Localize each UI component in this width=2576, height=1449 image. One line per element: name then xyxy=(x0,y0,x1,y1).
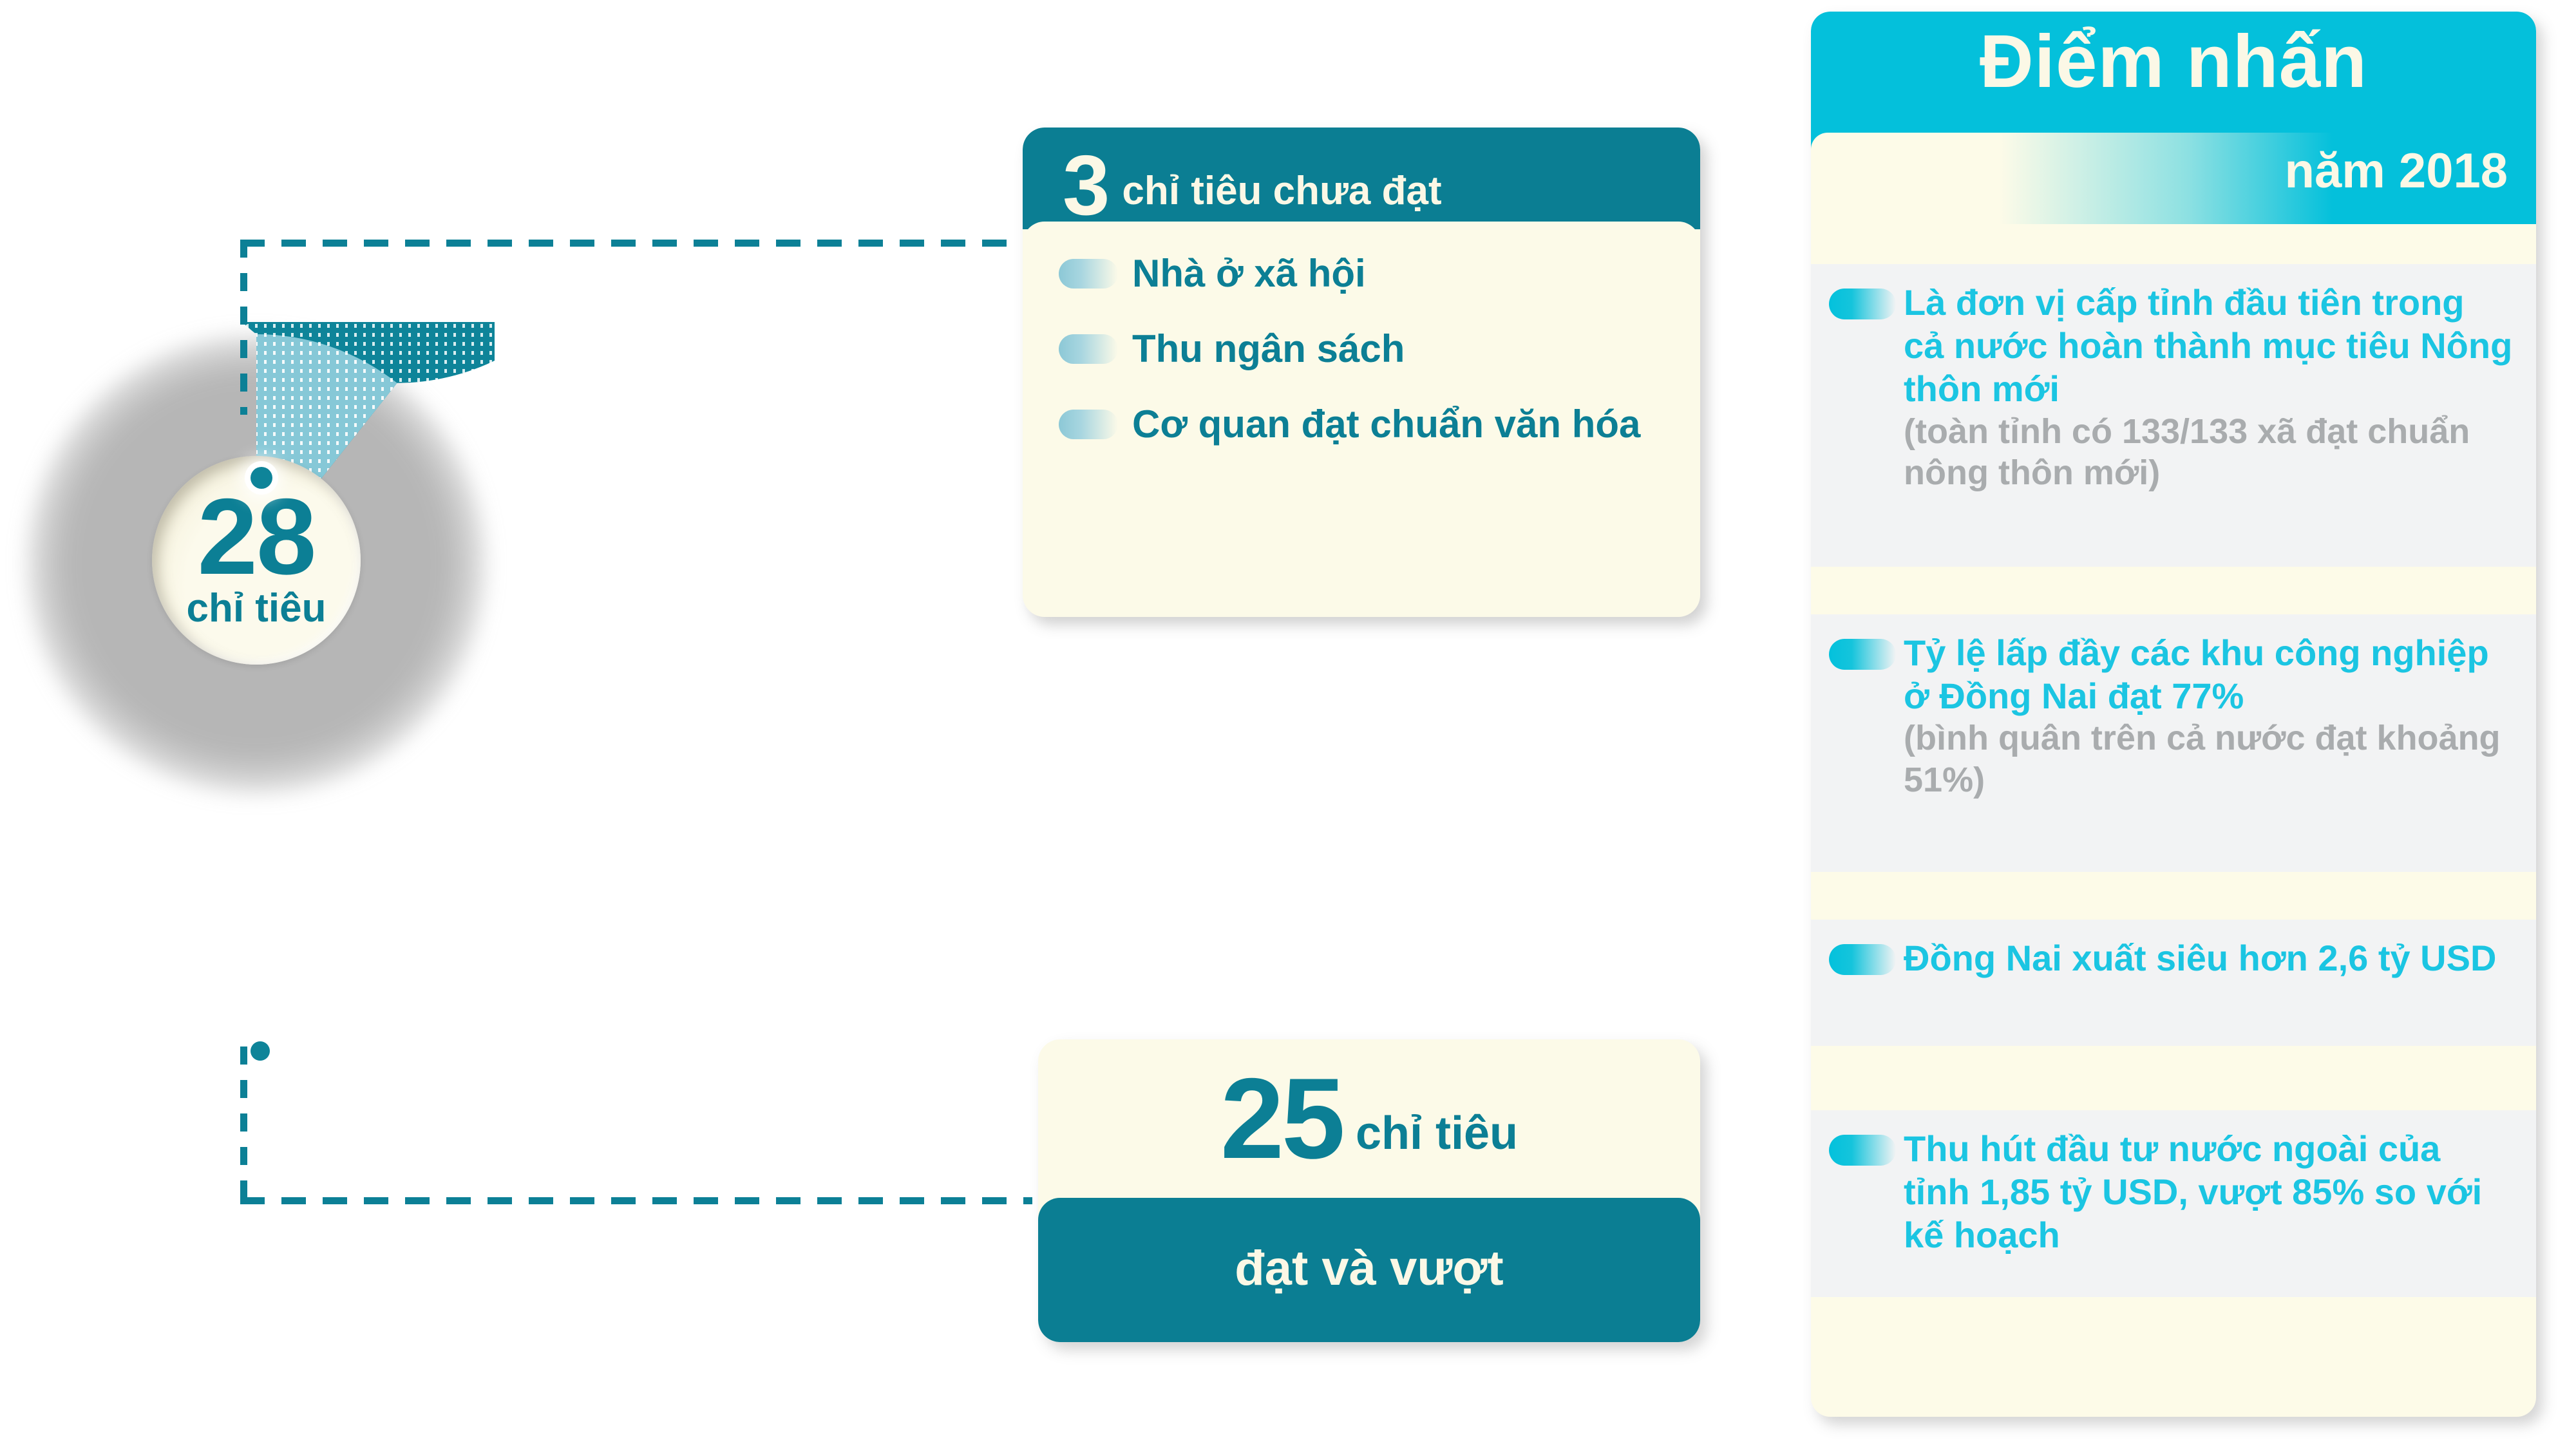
highlights-panel: Điểm nhấn năm 2018 Là đơn vị cấp tỉnh đầ… xyxy=(1811,12,2536,1417)
bullet-pill-icon xyxy=(1059,334,1118,364)
donut-center-number: 28 xyxy=(198,487,316,587)
row-spacer xyxy=(1811,567,2536,614)
connector-vertical-unmet xyxy=(240,240,247,415)
connector-horizontal-met xyxy=(240,1197,1032,1204)
highlight-row: Thu hút đầu tư nước ngoài của tỉnh 1,85 … xyxy=(1811,1110,2536,1297)
donut-chart: 28 chỉ tiêu xyxy=(18,322,495,799)
donut-center-label: chỉ tiêu xyxy=(186,589,326,629)
card-met-count: 25 xyxy=(1220,1073,1343,1164)
highlights-list: Là đơn vị cấp tỉnh đầu tiên trong cả nướ… xyxy=(1811,224,2536,1297)
highlight-main-text: Thu hút đầu tư nước ngoài của tỉnh 1,85 … xyxy=(1904,1127,2514,1257)
row-spacer xyxy=(1811,872,2536,920)
list-item-label: Thu ngân sách xyxy=(1132,325,1405,372)
list-item: Cơ quan đạt chuẩn văn hóa xyxy=(1059,401,1664,448)
list-item: Thu ngân sách xyxy=(1059,325,1664,372)
highlight-main-text: Tỷ lệ lấp đầy các khu công nghiệp ở Đồng… xyxy=(1904,631,2514,717)
bullet-pill-icon xyxy=(1829,639,1896,670)
card-unmet-list: Nhà ở xã hội Thu ngân sách Cơ quan đạt c… xyxy=(1023,250,1700,477)
list-item-label: Cơ quan đạt chuẩn văn hóa xyxy=(1132,401,1640,448)
card-unmet-body-top-curve xyxy=(1023,222,1700,252)
bullet-pill-icon xyxy=(1829,1135,1896,1166)
list-item-label: Nhà ở xã hội xyxy=(1132,250,1366,297)
card-met-footer: đạt và vượt xyxy=(1038,1198,1700,1342)
infographic-canvas: 28 chỉ tiêu 3 chỉ tiêu chưa đạt Nhà ở xã… xyxy=(0,0,2576,1449)
callout-dot-unmet[interactable] xyxy=(251,467,272,489)
page-title: Điểm nhấn xyxy=(1811,21,2536,103)
card-unmet-targets: 3 chỉ tiêu chưa đạt Nhà ở xã hội Thu ngâ… xyxy=(1023,128,1700,617)
card-unmet-header-label: chỉ tiêu chưa đạt xyxy=(1122,171,1441,211)
highlight-text-block: Thu hút đầu tư nước ngoài của tỉnh 1,85 … xyxy=(1904,1127,2514,1280)
highlight-row: Là đơn vị cấp tỉnh đầu tiên trong cả nướ… xyxy=(1811,264,2536,567)
connector-horizontal-unmet xyxy=(240,240,1026,247)
bullet-pill-icon xyxy=(1829,944,1896,975)
card-met-top: 25 chỉ tiêu xyxy=(1038,1039,1700,1209)
card-unmet-count: 3 xyxy=(1063,153,1108,219)
card-unmet-header: 3 chỉ tiêu chưa đạt xyxy=(1023,128,1700,229)
highlights-panel-subtitle: năm 2018 xyxy=(2285,147,2508,196)
bullet-pill-icon xyxy=(1059,259,1118,289)
list-item: Nhà ở xã hội xyxy=(1059,250,1664,297)
highlight-text-block: Đồng Nai xuất siêu hơn 2,6 tỷ USD xyxy=(1904,936,2496,1029)
row-spacer xyxy=(1811,1046,2536,1110)
highlight-row: Đồng Nai xuất siêu hơn 2,6 tỷ USD xyxy=(1811,920,2536,1046)
card-met-targets: 25 chỉ tiêu đạt và vượt xyxy=(1038,1039,1700,1342)
highlight-text-block: Tỷ lệ lấp đầy các khu công nghiệp ở Đồng… xyxy=(1904,631,2514,855)
highlight-note-text: (toàn tỉnh có 133/133 xã đạt chuẩn nông … xyxy=(1904,411,2514,495)
bullet-pill-icon xyxy=(1059,410,1118,439)
callout-dot-met[interactable] xyxy=(251,1041,270,1061)
bullet-pill-icon xyxy=(1829,289,1896,319)
highlight-main-text: Là đơn vị cấp tỉnh đầu tiên trong cả nướ… xyxy=(1904,281,2514,411)
card-met-footer-label: đạt và vượt xyxy=(1235,1244,1503,1293)
highlight-main-text: Đồng Nai xuất siêu hơn 2,6 tỷ USD xyxy=(1904,936,2496,980)
row-spacer xyxy=(1811,224,2536,264)
card-met-label: chỉ tiêu xyxy=(1356,1110,1518,1157)
highlight-note-text: (bình quân trên cả nước đạt khoảng 51%) xyxy=(1904,717,2514,801)
highlight-row: Tỷ lệ lấp đầy các khu công nghiệp ở Đồng… xyxy=(1811,614,2536,872)
highlight-text-block: Là đơn vị cấp tỉnh đầu tiên trong cả nướ… xyxy=(1904,281,2514,550)
connector-vertical-met xyxy=(240,1046,247,1204)
